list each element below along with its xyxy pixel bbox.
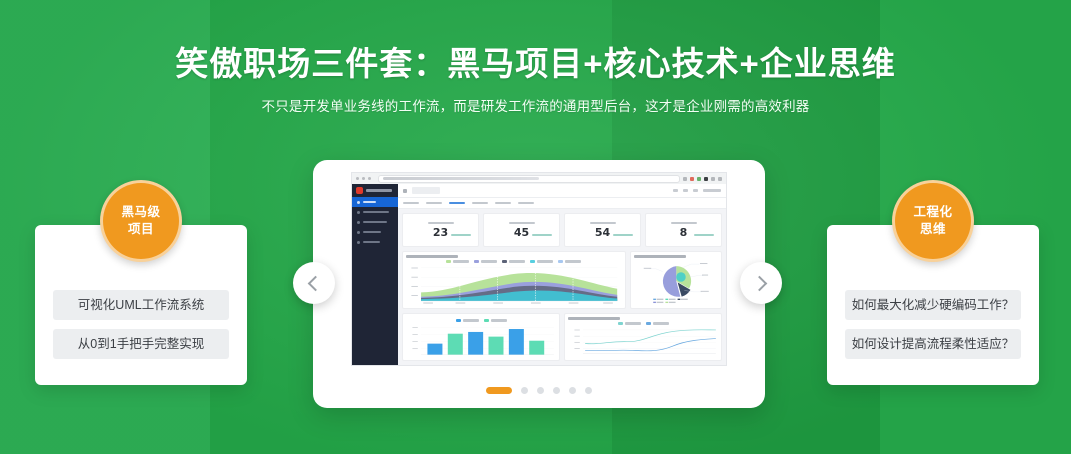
logo-text bbox=[366, 189, 392, 192]
line-chart-title bbox=[568, 317, 620, 320]
left-badge-line1: 黑马级 bbox=[121, 204, 160, 221]
refresh-icon[interactable] bbox=[673, 189, 678, 192]
bar-chart-panel bbox=[402, 313, 560, 361]
app-topbar bbox=[398, 184, 726, 198]
dashboard-body: 23 45 54 bbox=[398, 209, 726, 365]
stat-value: 8 bbox=[680, 227, 688, 238]
stat-label bbox=[509, 222, 535, 225]
app-sidebar bbox=[352, 184, 398, 365]
right-card-rows: 如何最大化减少硬编码工作？ 如何设计提高流程柔性适应？ bbox=[845, 290, 1021, 359]
menu-icon bbox=[718, 177, 722, 181]
sidebar-item-4[interactable] bbox=[352, 237, 398, 247]
browser-extensions bbox=[683, 177, 722, 181]
stat-card: 23 bbox=[402, 213, 479, 247]
sidebar-item-home[interactable] bbox=[352, 197, 398, 207]
extension-dark-icon bbox=[704, 177, 708, 181]
sidebar-item-label bbox=[363, 221, 387, 224]
carousel-dot-1[interactable] bbox=[486, 387, 512, 394]
extension-green-icon bbox=[697, 177, 701, 181]
bell-icon[interactable] bbox=[693, 189, 698, 192]
carousel-dot-6[interactable] bbox=[585, 387, 592, 394]
user-menu[interactable] bbox=[703, 189, 721, 192]
carousel-prev-button[interactable] bbox=[293, 262, 335, 304]
carousel-pagination bbox=[313, 387, 765, 394]
stat-label bbox=[671, 222, 697, 225]
gear-icon bbox=[357, 241, 360, 244]
carousel-dot-2[interactable] bbox=[521, 387, 528, 394]
stat-value: 45 bbox=[514, 227, 529, 238]
carousel-next-button[interactable] bbox=[740, 262, 782, 304]
stat-label bbox=[428, 222, 454, 225]
list-item: 从0到1手把手完整实现 bbox=[53, 329, 229, 359]
right-feature-card: 工程化 思维 如何最大化减少硬编码工作？ 如何设计提高流程柔性适应？ bbox=[827, 225, 1039, 385]
left-card-rows: 可视化UML工作流系统 从0到1手把手完整实现 bbox=[53, 290, 229, 359]
filter-bar bbox=[398, 198, 726, 209]
filter-1[interactable] bbox=[403, 202, 419, 205]
reload-icon bbox=[368, 177, 371, 180]
admin-app: 23 45 54 bbox=[352, 184, 726, 365]
area-chart-panel bbox=[402, 251, 626, 309]
logo-mark-icon bbox=[356, 187, 363, 194]
line-chart bbox=[568, 325, 718, 357]
chevron-right-icon bbox=[752, 275, 768, 291]
filter-5[interactable] bbox=[518, 202, 534, 205]
list-item: 可视化UML工作流系统 bbox=[53, 290, 229, 320]
stat-trend bbox=[613, 234, 633, 237]
stat-trend bbox=[694, 234, 714, 237]
sidebar-item-label bbox=[363, 241, 380, 244]
pie-chart-panel bbox=[630, 251, 723, 309]
address-bar[interactable] bbox=[378, 175, 680, 183]
forward-icon bbox=[362, 177, 365, 180]
stacked-area-chart bbox=[406, 263, 622, 306]
back-icon bbox=[356, 177, 359, 180]
line-chart-panel bbox=[564, 313, 722, 361]
sidebar-item-3[interactable] bbox=[352, 227, 398, 237]
folder-icon bbox=[357, 231, 360, 234]
banner-stage: 笑傲职场三件套：黑马项目+核心技术+企业思维 不只是开发单业务线的工作流，而是研… bbox=[0, 0, 1071, 454]
filter-active[interactable] bbox=[449, 202, 465, 205]
tablet-device-frame: 23 45 54 bbox=[313, 160, 765, 408]
area-chart-title bbox=[406, 255, 458, 258]
right-badge-line1: 工程化 bbox=[913, 204, 952, 221]
banner-header: 笑傲职场三件套：黑马项目+核心技术+企业思维 不只是开发单业务线的工作流，而是研… bbox=[0, 44, 1071, 116]
carousel-dot-3[interactable] bbox=[537, 387, 544, 394]
list-item: 如何设计提高流程柔性适应？ bbox=[845, 329, 1021, 359]
filter-2[interactable] bbox=[426, 202, 442, 205]
sidebar-item-label bbox=[363, 201, 376, 204]
pie-chart bbox=[634, 258, 719, 305]
stat-trend bbox=[451, 234, 471, 237]
tab-active[interactable] bbox=[412, 187, 440, 194]
stat-value: 54 bbox=[595, 227, 610, 238]
left-badge-line2: 项目 bbox=[128, 221, 154, 238]
chevron-left-icon bbox=[308, 275, 324, 291]
left-card-badge: 黑马级 项目 bbox=[100, 180, 182, 262]
star-icon bbox=[683, 177, 687, 181]
sidebar-item-label bbox=[363, 231, 381, 234]
carousel-dot-5[interactable] bbox=[569, 387, 576, 394]
page-subtitle: 不只是开发单业务线的工作流，而是研发工作流的通用型后台，这才是企业刚需的高效利器 bbox=[0, 98, 1071, 116]
collapse-icon[interactable] bbox=[403, 189, 407, 193]
stat-card: 54 bbox=[564, 213, 641, 247]
filter-4[interactable] bbox=[495, 202, 511, 205]
filter-3[interactable] bbox=[472, 202, 488, 205]
bar-chart bbox=[406, 322, 556, 357]
stat-trend bbox=[532, 234, 552, 237]
fullscreen-icon[interactable] bbox=[683, 189, 688, 192]
app-logo bbox=[352, 184, 398, 197]
home-icon bbox=[357, 201, 360, 204]
extension-red-icon bbox=[690, 177, 694, 181]
list-icon bbox=[357, 221, 360, 224]
stat-value: 23 bbox=[433, 227, 448, 238]
dashboard-screenshot: 23 45 54 bbox=[351, 172, 727, 366]
stat-card-row: 23 45 54 bbox=[402, 213, 722, 247]
stat-card: 8 bbox=[645, 213, 722, 247]
page-title: 笑傲职场三件套：黑马项目+核心技术+企业思维 bbox=[0, 44, 1071, 84]
right-card-badge: 工程化 思维 bbox=[892, 180, 974, 262]
sidebar-item-1[interactable] bbox=[352, 207, 398, 217]
left-feature-card: 黑马级 项目 可视化UML工作流系统 从0到1手把手完整实现 bbox=[35, 225, 247, 385]
carousel-dot-4[interactable] bbox=[553, 387, 560, 394]
grid-icon bbox=[357, 211, 360, 214]
app-main: 23 45 54 bbox=[398, 184, 726, 365]
right-badge-line2: 思维 bbox=[920, 221, 946, 238]
sidebar-item-2[interactable] bbox=[352, 217, 398, 227]
stat-label bbox=[590, 222, 616, 225]
avatar-icon bbox=[711, 177, 715, 181]
stat-card: 45 bbox=[483, 213, 560, 247]
list-item: 如何最大化减少硬编码工作？ bbox=[845, 290, 1021, 320]
sidebar-item-label bbox=[363, 211, 389, 214]
